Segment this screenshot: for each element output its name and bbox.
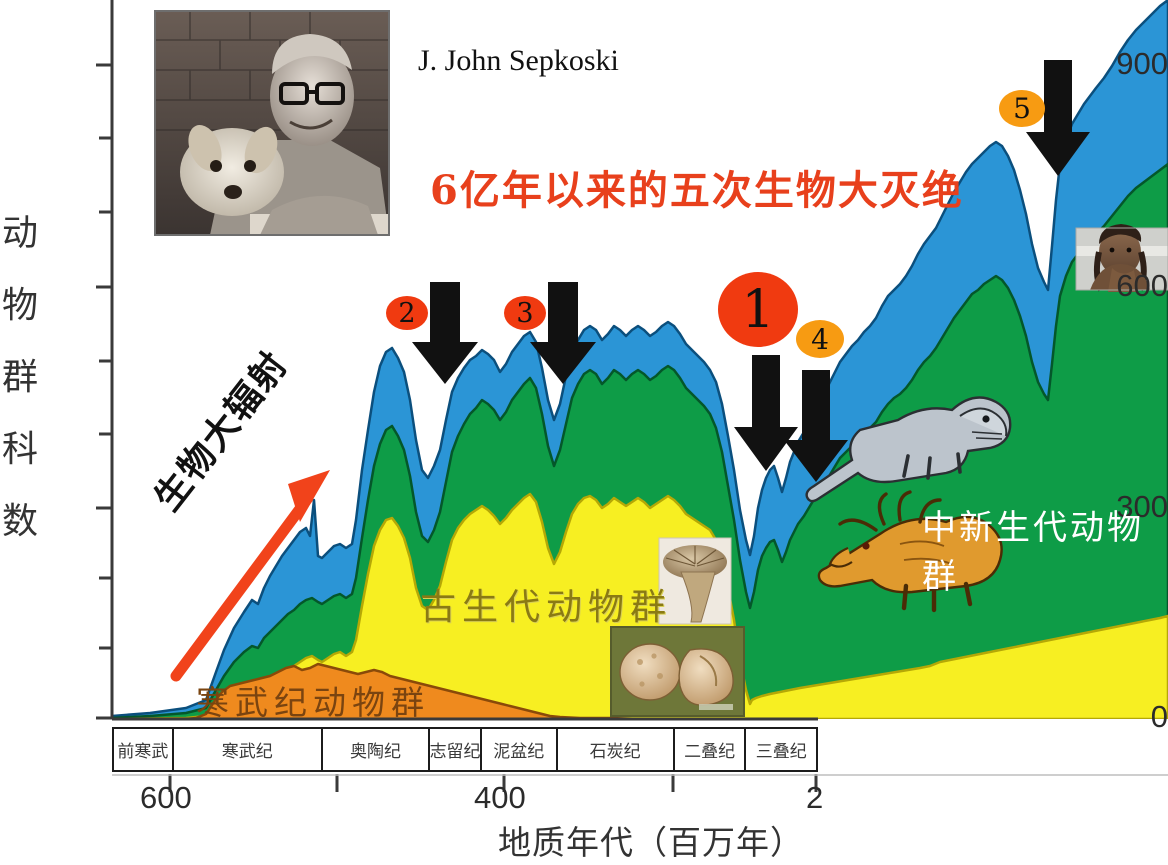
extinction-marker-1[interactable]: 1 xyxy=(718,272,798,347)
x-tick-200: 2 xyxy=(806,780,823,816)
label-paleozoic-fauna: 古生代动物群 xyxy=(420,578,672,630)
x-tick-600: 600 xyxy=(140,780,192,816)
period-cell-permian: 二叠纪 xyxy=(675,729,747,770)
extinction-marker-5[interactable]: 5 xyxy=(999,90,1045,127)
period-cell-silurian: 志留纪 xyxy=(430,729,482,770)
y-tick-600: 600 xyxy=(1076,268,1168,304)
period-cell-ordovician: 奥陶纪 xyxy=(323,729,430,770)
y-tick-900: 900 xyxy=(1076,46,1168,82)
extinction-marker-2[interactable]: 2 xyxy=(386,296,428,330)
brachiopod-fossil-photo xyxy=(611,627,744,716)
period-cell-precambrian: 前寒武 xyxy=(114,729,174,770)
y-tick-0: 0 xyxy=(1076,699,1168,735)
geologic-period-band: 前寒武 寒武纪 奥陶纪 志留纪 泥盆纪 石炭纪 二叠纪 三叠纪 xyxy=(112,727,818,772)
x-tick-400: 400 xyxy=(474,780,526,816)
period-cell-devonian: 泥盆纪 xyxy=(482,729,558,770)
author-credit: J. John Sepkoski xyxy=(418,44,619,78)
down-arrow-icon-1 xyxy=(734,355,798,471)
sepkoski-photo xyxy=(155,11,389,235)
period-cell-carboniferous: 石炭纪 xyxy=(558,729,675,770)
extinction-marker-4[interactable]: 4 xyxy=(796,320,844,358)
y-axis-title-char-5: 数 xyxy=(0,486,48,558)
x-axis-title: 地质年代（百万年） xyxy=(498,816,804,864)
y-axis-title-char-4: 科 xyxy=(0,414,48,486)
period-cell-triassic: 三叠纪 xyxy=(746,729,816,770)
label-cambrian-fauna: 寒武纪动物群 xyxy=(196,676,430,724)
y-axis-title-char-3: 群 xyxy=(0,342,48,414)
label-modern-fauna: 中新生代动物群 xyxy=(922,500,1168,598)
extinction-marker-3[interactable]: 3 xyxy=(504,296,546,330)
y-axis-title: 动 物 群 科 数 xyxy=(0,198,48,558)
page-title: 6亿年以来的五次生物大灭绝 xyxy=(430,158,964,216)
y-axis-title-char-1: 动 xyxy=(0,198,48,270)
y-axis-title-char-2: 物 xyxy=(0,270,48,342)
period-cell-cambrian: 寒武纪 xyxy=(174,729,323,770)
figure-canvas: 900 600 300 0 动 物 群 科 数 前寒武 寒武纪 奥陶纪 志留纪 … xyxy=(0,0,1168,865)
